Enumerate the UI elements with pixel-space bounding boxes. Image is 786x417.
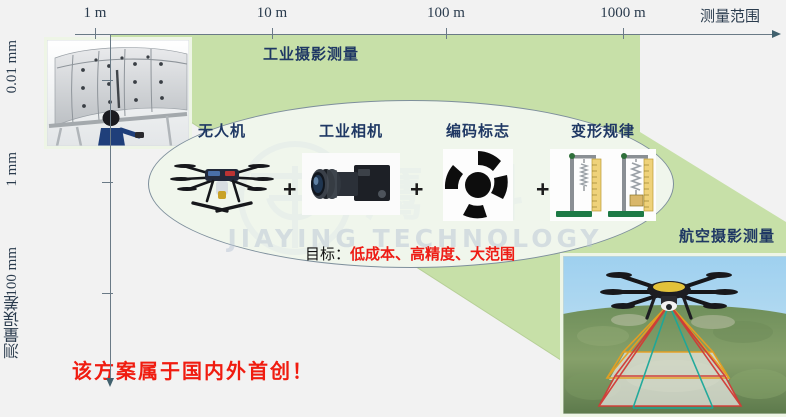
x-tick-1000m xyxy=(623,28,624,39)
y-tick-label-001mm: 0.01 mm xyxy=(4,40,21,93)
item-label-camera: 工业相机 xyxy=(296,120,406,141)
y-tick-001mm xyxy=(102,80,113,81)
item-drone: 无人机 xyxy=(167,120,277,225)
y-axis-arrow xyxy=(106,378,114,387)
y-axis-title: 测量误差 xyxy=(2,295,26,359)
coded-marker-icon xyxy=(423,145,533,225)
aerial-photo-art xyxy=(563,256,786,414)
y-tick-100mm xyxy=(102,293,113,294)
y-tick-label-1mm: 1 mm xyxy=(4,152,21,187)
item-label-coded-marker: 编码标志 xyxy=(423,120,533,141)
camera-icon xyxy=(296,145,406,225)
item-deformation: 变形规律 xyxy=(548,120,658,225)
drone-icon xyxy=(167,145,277,225)
x-tick-label-100m: 100 m xyxy=(427,5,465,22)
deformation-icon xyxy=(548,145,658,225)
x-tick-100m xyxy=(446,28,447,39)
y-tick-1mm xyxy=(102,182,113,183)
item-label-drone: 无人机 xyxy=(167,120,277,141)
goal-value: 低成本、高精度、大范围 xyxy=(350,246,515,263)
x-tick-label-1000m: 1000 m xyxy=(600,5,645,22)
y-tick-label-100mm: 100 mm xyxy=(4,247,21,297)
aerial-drone-survey-photo xyxy=(560,253,786,417)
goal-line: 目标：低成本、高精度、大范围 xyxy=(148,243,672,264)
item-camera: 工业相机 xyxy=(296,120,406,225)
plus-operator-1: + xyxy=(283,176,296,203)
x-axis-title: 测量范围 xyxy=(700,5,760,26)
x-tick-1m xyxy=(95,28,96,39)
x-axis-line xyxy=(75,34,775,35)
x-tick-10m xyxy=(272,28,273,39)
item-label-deformation: 变形规律 xyxy=(548,120,658,141)
x-tick-label-10m: 10 m xyxy=(257,5,287,22)
region-label-aerial: 航空摄影测量 xyxy=(679,225,775,246)
plus-operator-2: + xyxy=(410,176,423,203)
x-axis-arrow xyxy=(772,30,781,38)
y-axis-line xyxy=(110,34,111,382)
item-coded-marker: 编码标志 xyxy=(423,120,533,225)
region-label-industrial: 工业摄影测量 xyxy=(263,43,359,64)
goal-prefix: 目标： xyxy=(305,246,350,263)
x-tick-label-1m: 1 m xyxy=(84,5,107,22)
figure-root: 工业摄影测量 航空摄影测量 鹰 科 技 JIAYING TECHNOLOGY 无… xyxy=(0,0,786,417)
